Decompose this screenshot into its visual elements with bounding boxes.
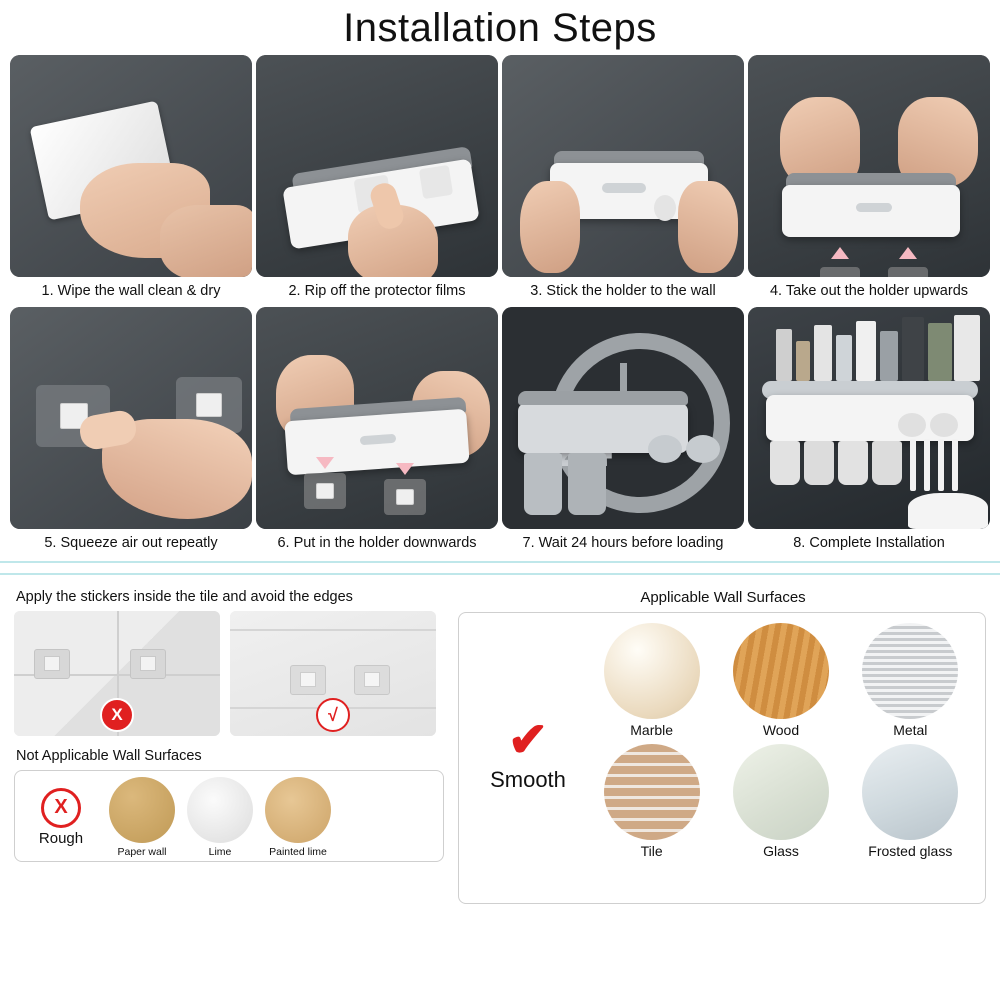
paper-wall-label: Paper wall — [117, 846, 166, 858]
tile-swatch — [604, 744, 700, 840]
right-badge: √ — [316, 698, 350, 732]
step-6: 6. Put in the holder downwards — [256, 307, 498, 555]
wood-label: Wood — [763, 722, 799, 738]
step-5-photo — [10, 307, 252, 529]
installation-steps-grid: 1. Wipe the wall clean & dry 2. Rip off … — [0, 55, 1000, 555]
step-7: 24 7. Wait 24 hours before loading — [502, 307, 744, 555]
surface-glass: Glass — [733, 744, 829, 859]
surface-lime: Lime — [187, 777, 253, 858]
step-7-caption: 7. Wait 24 hours before loading — [502, 529, 744, 555]
tile-examples: X √ — [14, 611, 444, 736]
not-applicable-box: X Rough Paper wall Lime Painted lime — [14, 770, 444, 862]
marble-swatch — [604, 623, 700, 719]
step-7-photo: 24 — [502, 307, 744, 529]
step-5: 5. Squeeze air out repeatly — [10, 307, 252, 555]
painted-lime-label: Painted lime — [269, 846, 327, 858]
applicable-box: ✔ Smooth Marble Wood Metal — [458, 612, 986, 904]
not-applicable-title: Not Applicable Wall Surfaces — [16, 748, 444, 764]
surface-wood: Wood — [733, 623, 829, 738]
step-4-caption: 4. Take out the holder upwards — [748, 277, 990, 303]
step-3: 3. Stick the holder to the wall — [502, 55, 744, 303]
surface-paper-wall: Paper wall — [109, 777, 175, 858]
step-2: 2. Rip off the protector films — [256, 55, 498, 303]
step-1-caption: 1. Wipe the wall clean & dry — [10, 277, 252, 303]
step-3-caption: 3. Stick the holder to the wall — [502, 277, 744, 303]
glass-label: Glass — [763, 843, 799, 859]
check-icon: ✔ — [473, 717, 583, 765]
rough-mark: X Rough — [25, 788, 97, 847]
step-6-caption: 6. Put in the holder downwards — [256, 529, 498, 555]
marble-label: Marble — [630, 722, 673, 738]
step-2-caption: 2. Rip off the protector films — [256, 277, 498, 303]
step-8: 8. Complete Installation — [748, 307, 990, 555]
smooth-label: Smooth — [473, 767, 583, 793]
step-1-photo — [10, 55, 252, 277]
surface-metal: Metal — [862, 623, 958, 738]
wall-surface-section: Apply the stickers inside the tile and a… — [0, 575, 1000, 904]
sticker-note: Apply the stickers inside the tile and a… — [16, 589, 444, 605]
applicable-block: Applicable Wall Surfaces ✔ Smooth Marble… — [458, 585, 986, 904]
metal-swatch — [862, 623, 958, 719]
smooth-mark: ✔ Smooth — [473, 717, 583, 793]
frosted-glass-swatch — [862, 744, 958, 840]
step-3-photo — [502, 55, 744, 277]
surface-painted-lime: Painted lime — [265, 777, 331, 858]
x-icon: X — [41, 788, 81, 828]
lime-swatch — [187, 777, 253, 843]
tile-example-wrong: X — [14, 611, 220, 736]
rough-label: Rough — [39, 830, 83, 847]
step-4-photo — [748, 55, 990, 277]
tile-label: Tile — [641, 843, 663, 859]
applicable-title: Applicable Wall Surfaces — [460, 589, 986, 606]
step-4: 4. Take out the holder upwards — [748, 55, 990, 303]
surface-tile: Tile — [604, 744, 700, 859]
step-1: 1. Wipe the wall clean & dry — [10, 55, 252, 303]
wrong-badge: X — [100, 698, 134, 732]
surface-frosted-glass: Frosted glass — [862, 744, 958, 859]
step-5-caption: 5. Squeeze air out repeatly — [10, 529, 252, 555]
page-title: Installation Steps — [0, 0, 1000, 55]
section-divider — [0, 561, 1000, 575]
applicable-surfaces-grid: Marble Wood Metal Tile — [587, 623, 975, 859]
paper-wall-swatch — [109, 777, 175, 843]
tile-example-right: √ — [230, 611, 436, 736]
step-6-photo — [256, 307, 498, 529]
page-root: Installation Steps 1. Wipe the wall clea… — [0, 0, 1000, 1000]
frosted-glass-label: Frosted glass — [868, 843, 952, 859]
step-8-caption: 8. Complete Installation — [748, 529, 990, 555]
metal-label: Metal — [893, 722, 927, 738]
sticker-placement-block: Apply the stickers inside the tile and a… — [14, 585, 444, 904]
surface-marble: Marble — [604, 623, 700, 738]
wood-swatch — [733, 623, 829, 719]
painted-lime-swatch — [265, 777, 331, 843]
step-2-photo — [256, 55, 498, 277]
glass-swatch — [733, 744, 829, 840]
step-8-photo — [748, 307, 990, 529]
lime-label: Lime — [209, 846, 232, 858]
